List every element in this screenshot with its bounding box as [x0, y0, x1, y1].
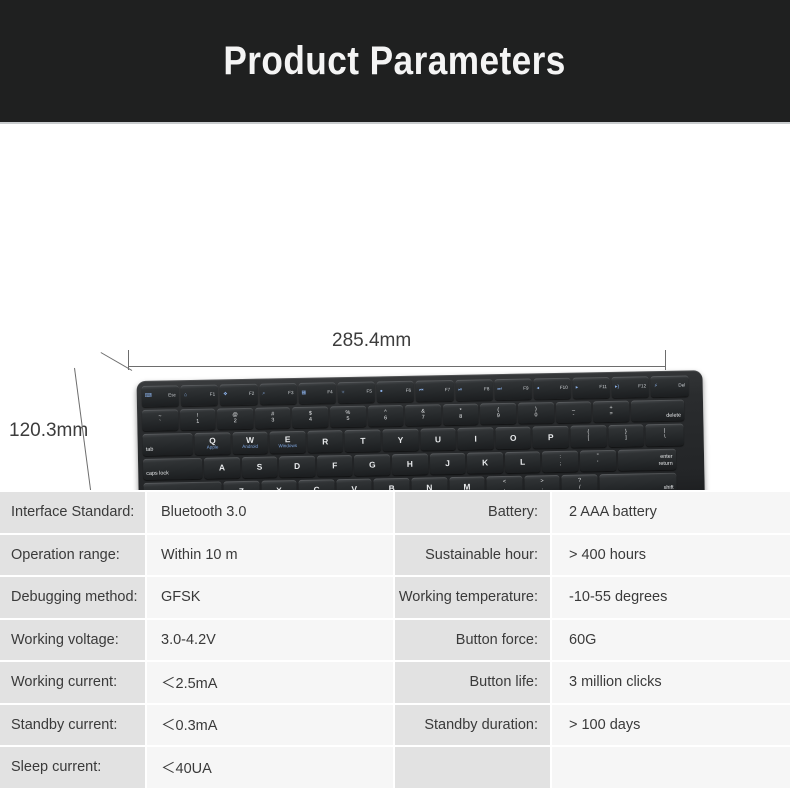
keyboard-key[interactable]: <, — [487, 475, 523, 490]
keyboard-key[interactable]: M — [449, 476, 485, 490]
keyboard-body: ⌨Esc⌂F1❖F2⌕F3▦F4☼F5●F6⏮F7⏯F8⏭F9◂F10▸F11▸… — [136, 370, 705, 490]
header-banner: Product Parameters — [0, 0, 790, 122]
fn-key-label: F10 — [560, 386, 568, 391]
fn-key-icon: ⌂ — [184, 393, 187, 398]
fn-key-label: F2 — [249, 392, 254, 397]
fn-key-icon: ● — [380, 389, 383, 394]
spec-value-cell — [552, 747, 790, 790]
fn-key-label: F6 — [406, 389, 411, 394]
bluetooth-keyboard-image: ⌨Esc⌂F1❖F2⌕F3▦F4☼F5●F6⏮F7⏯F8⏭F9◂F10▸F11▸… — [94, 356, 708, 490]
keyboard-key[interactable]: V — [336, 478, 372, 490]
key-label: L — [520, 457, 525, 466]
key-label: - — [573, 413, 575, 419]
keyboard-key[interactable]: ●F6 — [377, 381, 415, 403]
keyboard-key[interactable]: R — [307, 431, 343, 453]
key-label: \ — [664, 435, 666, 441]
key-label: shift — [664, 486, 674, 490]
keyboard-key[interactable]: F — [317, 455, 353, 477]
keyboard-key[interactable]: ⏮F7 — [416, 380, 454, 402]
keyboard-key[interactable]: ☼F5 — [337, 381, 375, 403]
fn-key-label: F9 — [523, 387, 528, 392]
spec-value-cell: Bluetooth 3.0 — [147, 492, 395, 535]
key-label: H — [407, 460, 413, 469]
spec-value-cell: ＜0.3mA — [147, 705, 395, 748]
keyboard-key[interactable]: delete — [631, 400, 684, 422]
key-label: M — [463, 483, 470, 490]
keyboard-key[interactable]: ❖F2 — [220, 384, 258, 406]
key-label: [ — [588, 437, 590, 443]
key-label: 5 — [346, 417, 349, 423]
key-label: 7 — [422, 416, 425, 422]
keyboard-key[interactable]: Z — [223, 481, 259, 490]
key-label: N — [426, 483, 432, 490]
keyboard-key[interactable]: U — [420, 428, 456, 450]
keyboard-key[interactable]: ▦F4 — [298, 382, 336, 404]
spec-value-cell: ＜40UA — [147, 747, 395, 790]
keyboard-key[interactable]: S — [242, 456, 278, 478]
fn-key-icon: ◂ — [537, 386, 540, 391]
height-dimension-label: 120.3mm — [9, 420, 88, 442]
spec-value-cell: ＜2.5mA — [147, 662, 395, 705]
fn-key-label: F5 — [366, 390, 371, 395]
spec-value-cell: > 100 days — [552, 705, 790, 748]
fn-key-icon: ▸) — [615, 385, 619, 390]
key-label: I — [474, 434, 476, 443]
key-os-label: Windows — [278, 444, 297, 449]
key-label: 8 — [459, 415, 462, 421]
keyboard-key[interactable]: C — [299, 479, 335, 490]
fn-key-icon: ⏭ — [497, 387, 502, 392]
spec-label-cell: Button force: — [395, 620, 552, 663]
spec-label-cell: Working temperature: — [395, 577, 552, 620]
key-label: ' — [597, 461, 598, 467]
keyboard-key[interactable]: $4 — [292, 407, 328, 429]
spec-label-cell: Standby duration: — [395, 705, 552, 748]
keyboard-key[interactable]: G — [354, 454, 390, 476]
keyboard-key[interactable]: ^6 — [368, 405, 404, 427]
key-label: K — [482, 458, 488, 467]
spec-label-cell: Sleep current: — [0, 747, 147, 790]
key-shift-label: " — [597, 454, 599, 460]
spec-label-cell: Operation range: — [0, 535, 147, 578]
key-label: Y — [398, 436, 404, 445]
key-label: Z — [239, 487, 244, 490]
keyboard-key[interactable]: %5 — [330, 406, 366, 428]
spec-label-cell — [395, 747, 552, 790]
key-label: G — [369, 460, 376, 469]
key-label: 3 — [271, 419, 274, 425]
fn-key-icon: ▦ — [301, 391, 306, 396]
keyboard-key[interactable]: enterreturn — [617, 448, 675, 470]
keyboard-key[interactable]: |\ — [646, 424, 684, 446]
keyboard-key[interactable]: I — [458, 428, 494, 450]
key-label: 2 — [234, 419, 237, 425]
key-label: ` — [159, 421, 161, 427]
keyboard-key[interactable]: H — [392, 453, 428, 475]
keyboard-key[interactable]: {[ — [570, 425, 606, 447]
key-os-label: Apple — [207, 446, 219, 451]
keyboard-key[interactable]: @2 — [217, 408, 253, 430]
keyboard-key[interactable]: += — [593, 401, 629, 423]
keyboard-key[interactable]: Y — [382, 429, 418, 451]
keyboard-key[interactable]: T — [345, 430, 381, 452]
spec-label-cell: Standby current: — [0, 705, 147, 748]
keyboard-key[interactable]: A — [204, 457, 240, 479]
key-label: X — [276, 486, 282, 490]
fn-key-label: Del — [678, 384, 685, 389]
fn-key-label: F11 — [599, 385, 607, 390]
keyboard-key[interactable]: ~` — [142, 409, 178, 431]
keyboard-key[interactable]: caps lock — [143, 457, 202, 479]
keyboard-key[interactable]: ⚡Del — [651, 375, 689, 397]
spec-value-cell: 2 AAA battery — [552, 492, 790, 535]
key-alt-label: return — [659, 462, 673, 468]
key-label: = — [610, 412, 613, 418]
specifications-table: Interface Standard:Bluetooth 3.0Battery:… — [0, 492, 790, 790]
keyboard-key[interactable]: >. — [524, 475, 560, 490]
keyboard-key[interactable]: D — [279, 455, 315, 477]
spec-value-cell: Within 10 m — [147, 535, 395, 578]
keyboard-key[interactable]: "' — [580, 449, 616, 471]
keyboard-key[interactable]: ⏭F9 — [494, 378, 532, 400]
spec-label-cell: Button life: — [395, 662, 552, 705]
keyboard-key[interactable]: N — [411, 477, 447, 490]
key-label: D — [294, 462, 300, 471]
keyboard-key[interactable]: ▸F11 — [573, 377, 611, 399]
keyboard-key[interactable]: &7 — [405, 404, 441, 426]
key-label: 9 — [497, 414, 500, 420]
width-dimension-label: 285.4mm — [332, 330, 411, 352]
keyboard-key[interactable]: tab — [143, 433, 193, 455]
keyboard-key[interactable]: X — [261, 480, 297, 490]
key-label: Q — [209, 436, 216, 445]
keyboard-key[interactable]: ⌂F1 — [181, 385, 219, 407]
keyboard-key[interactable]: ⏯F8 — [455, 379, 493, 401]
key-label: T — [360, 436, 365, 445]
key-label: R — [322, 437, 328, 446]
keyboard-key[interactable]: (9 — [480, 403, 516, 425]
key-label: , — [504, 487, 506, 490]
key-label: U — [435, 435, 441, 444]
key-label: ] — [625, 436, 627, 442]
fn-key-label: F8 — [484, 387, 489, 392]
key-os-label: Android — [242, 445, 258, 450]
fn-key-label: Esc — [168, 393, 176, 398]
fn-key-label: F3 — [288, 391, 293, 396]
keyboard-key[interactable]: }] — [608, 425, 644, 447]
key-label: 4 — [309, 418, 312, 424]
fn-key-icon: ⚡ — [654, 384, 658, 389]
fn-key-icon: ⌕ — [262, 392, 265, 397]
keyboard-key[interactable]: ▸)F12 — [612, 376, 650, 398]
key-label: A — [219, 463, 225, 472]
keyboard-key[interactable]: #3 — [255, 407, 291, 429]
fn-key-icon: ▸ — [576, 386, 579, 391]
spec-value-cell: > 400 hours — [552, 535, 790, 578]
keyboard-key[interactable]: :; — [542, 450, 578, 472]
keyboard-key[interactable]: P — [533, 426, 569, 448]
keyboard-key[interactable]: shift — [143, 481, 221, 490]
key-shift-label: : — [559, 455, 561, 461]
keyboard-key[interactable]: B — [374, 478, 410, 490]
key-label: 1 — [196, 420, 199, 426]
keyboard-key[interactable]: L — [505, 451, 541, 473]
key-label: J — [445, 459, 450, 468]
spec-value-cell: 3.0-4.2V — [147, 620, 395, 663]
product-diagram-area: 285.4mm 120.3mm ⌨Esc⌂F1❖F2⌕F3▦F4☼F5●F6⏮F… — [0, 124, 790, 490]
spec-value-cell: GFSK — [147, 577, 395, 620]
spec-label-cell: Debugging method: — [0, 577, 147, 620]
spec-label-cell: Working current: — [0, 662, 147, 705]
fn-key-icon: ☼ — [341, 390, 346, 395]
keyboard-key[interactable]: ?/ — [562, 474, 598, 490]
key-label: . — [541, 486, 543, 490]
spec-label-cell: Sustainable hour: — [395, 535, 552, 578]
keyboard-keys-area: ⌨Esc⌂F1❖F2⌕F3▦F4☼F5●F6⏮F7⏯F8⏭F9◂F10▸F11▸… — [142, 375, 701, 490]
keyboard-key[interactable]: *8 — [443, 404, 479, 426]
key-label: tab — [146, 448, 154, 454]
spec-value-cell: -10-55 degrees — [552, 577, 790, 620]
product-parameters-page: Product Parameters 285.4mm 120.3mm ⌨Esc⌂… — [0, 0, 790, 790]
spec-value-cell: 60G — [552, 620, 790, 663]
spec-value-cell: 3 million clicks — [552, 662, 790, 705]
fn-key-label: F1 — [210, 393, 215, 398]
keyboard-key[interactable]: )0 — [518, 402, 554, 424]
key-label: S — [257, 462, 263, 471]
page-title: Product Parameters — [224, 39, 566, 84]
keyboard-key[interactable]: _- — [556, 402, 592, 424]
key-label: E — [285, 435, 291, 444]
key-label: / — [579, 485, 581, 490]
fn-key-icon: ⌨ — [145, 394, 152, 399]
keyboard-key[interactable]: shift — [599, 473, 676, 490]
key-label: V — [351, 485, 357, 490]
key-label: 0 — [534, 414, 537, 420]
key-label: ; — [560, 462, 562, 468]
key-label: C — [313, 486, 319, 490]
spec-label-cell: Battery: — [395, 492, 552, 535]
key-label: O — [510, 433, 517, 442]
keyboard-key[interactable]: QApple — [195, 433, 231, 455]
spec-label-cell: Working voltage: — [0, 620, 147, 663]
keyboard-key[interactable]: J — [429, 452, 465, 474]
fn-key-icon: ⏮ — [419, 389, 424, 394]
fn-key-label: F12 — [638, 384, 646, 389]
keyboard-key[interactable]: !1 — [180, 409, 216, 431]
fn-key-icon: ❖ — [223, 392, 228, 397]
key-label: caps lock — [146, 472, 169, 478]
keyboard-key[interactable]: EWindows — [270, 431, 306, 453]
keyboard-key[interactable]: WAndroid — [232, 432, 268, 454]
key-label: W — [246, 435, 254, 444]
keyboard-key[interactable]: K — [467, 452, 503, 474]
keyboard-key[interactable]: ⌕F3 — [259, 383, 297, 405]
keyboard-key[interactable]: ⌨Esc — [142, 385, 180, 407]
spec-label-cell: Interface Standard: — [0, 492, 147, 535]
fn-key-label: F7 — [445, 388, 450, 393]
fn-key-icon: ⏯ — [458, 388, 462, 393]
key-label: delete — [666, 413, 681, 419]
key-label: P — [548, 433, 554, 442]
fn-key-label: F4 — [327, 390, 332, 395]
key-label: B — [389, 484, 395, 490]
key-label: 6 — [384, 417, 387, 423]
keyboard-key[interactable]: ◂F10 — [533, 378, 571, 400]
key-label: F — [332, 461, 337, 470]
keyboard-key[interactable]: O — [495, 427, 531, 449]
